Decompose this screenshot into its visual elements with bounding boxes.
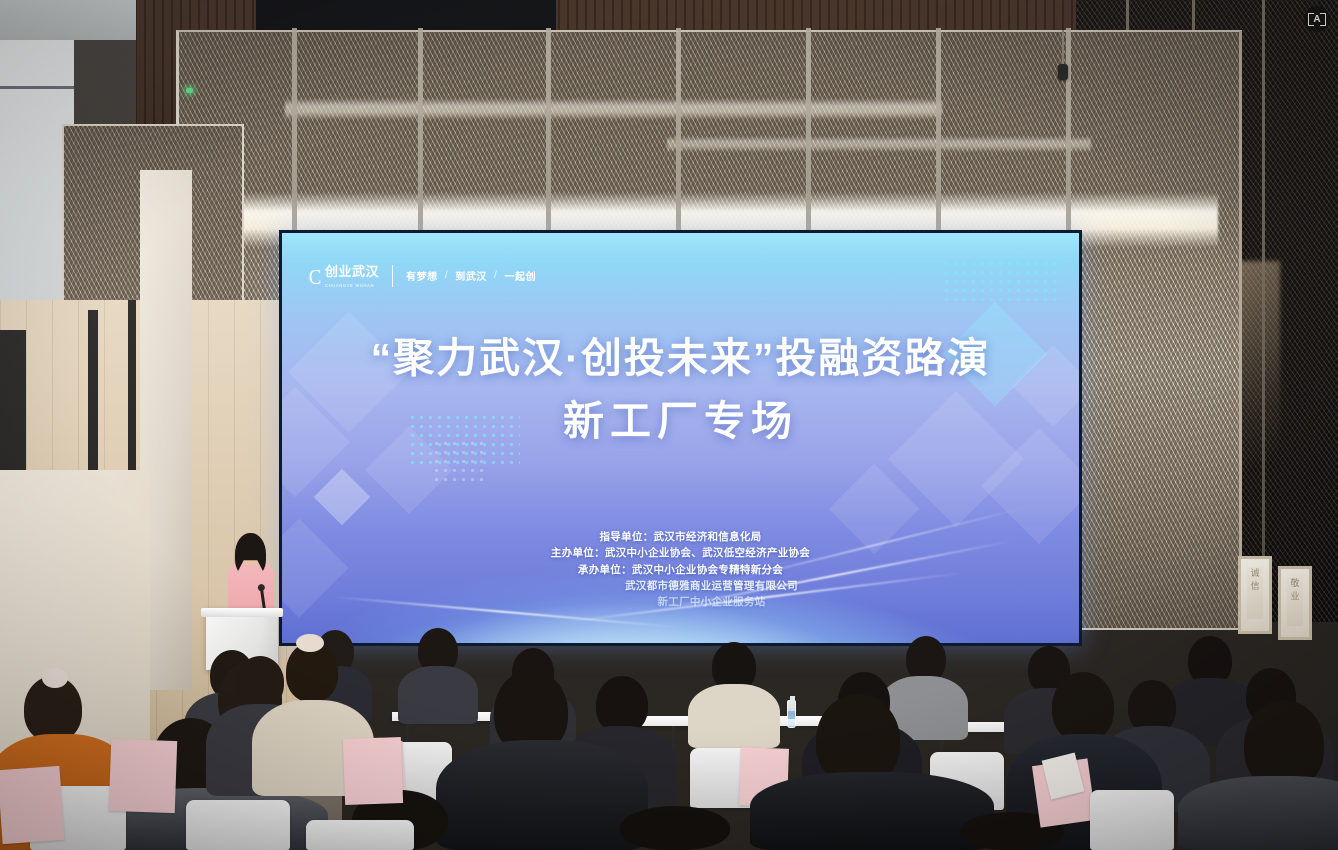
af-letter: A: [1309, 11, 1325, 27]
event-title-line-1: “聚力武汉·创投未来”投融资路演: [282, 333, 1079, 384]
ceiling-sensor: [1058, 64, 1068, 80]
handout-front-2: [109, 739, 177, 813]
ceiling-slab: [0, 0, 136, 40]
hair-clip-1: [42, 668, 68, 688]
attendee-body-front-8: [1178, 776, 1338, 850]
hair-scrunchie: [296, 634, 324, 652]
slogan-part-3: 一起创: [504, 268, 536, 283]
slogan-part-1: 有梦想: [406, 268, 438, 283]
auto-focus-indicator: A: [1304, 6, 1330, 32]
chair-front-3: [306, 820, 414, 850]
wall-frame-2: 敬 业: [1278, 566, 1312, 640]
event-title-line-2: 新工厂专场: [282, 396, 1079, 447]
brand-slogan: 有梦想 / 到武汉 / 一起创: [406, 268, 536, 283]
attendee-head-front-9: [1052, 672, 1114, 742]
attendee-body-far-2: [398, 666, 478, 724]
wall-frame-2-text: 敬 业: [1287, 577, 1304, 626]
status-led-green: [186, 88, 193, 93]
dot-matrix-3: [942, 259, 1062, 303]
handout-front-1: [0, 766, 65, 844]
photo-canvas: 诚 信 敬 业 C 创业武汉 CHUANGYE: [0, 0, 1338, 850]
logo-initial-c: C: [309, 267, 322, 288]
slogan-separator-2: /: [494, 270, 497, 281]
upper-window-frame: [256, 0, 556, 32]
attendee-body-far-4: [688, 684, 780, 748]
screen-light-rays: [279, 511, 1082, 646]
logo-wordmark-zh: 创业武汉: [325, 264, 379, 279]
logo-wordmark-en: CHUANGYE WUHAN: [325, 283, 379, 288]
attendee-body-front-7: [750, 772, 994, 850]
slogan-separator-1: /: [445, 270, 448, 281]
water-bottle-3: [787, 700, 796, 728]
chair-front-2: [186, 800, 290, 850]
handout-front-3: [343, 737, 403, 805]
screen-title-block: “聚力武汉·创投未来”投融资路演 新工厂专场: [282, 333, 1079, 448]
attendee-head-foreground-2: [620, 806, 730, 850]
ceiling-light-bar-3: [667, 136, 1091, 152]
wall-frame-1-text: 诚 信: [1247, 567, 1264, 619]
attendee-head-front-4: [236, 656, 284, 708]
attendee-body-front-6: [436, 740, 648, 850]
slogan-part-2: 到武汉: [455, 268, 487, 283]
logo-divider: [392, 265, 393, 287]
chuangye-wuhan-logo: C 创业武汉 CHUANGYE WUHAN: [308, 263, 379, 288]
screen-brand-header: C 创业武汉 CHUANGYE WUHAN 有梦想 / 到武汉 / 一起创: [308, 263, 536, 288]
led-presentation-screen: C 创业武汉 CHUANGYE WUHAN 有梦想 / 到武汉 / 一起创 “聚…: [279, 230, 1082, 646]
ceiling-light-bar-2: [285, 98, 942, 120]
wall-frame-1: 诚 信: [1238, 556, 1272, 634]
mullion-3: [1262, 0, 1265, 622]
chair-front-4: [1090, 790, 1174, 850]
